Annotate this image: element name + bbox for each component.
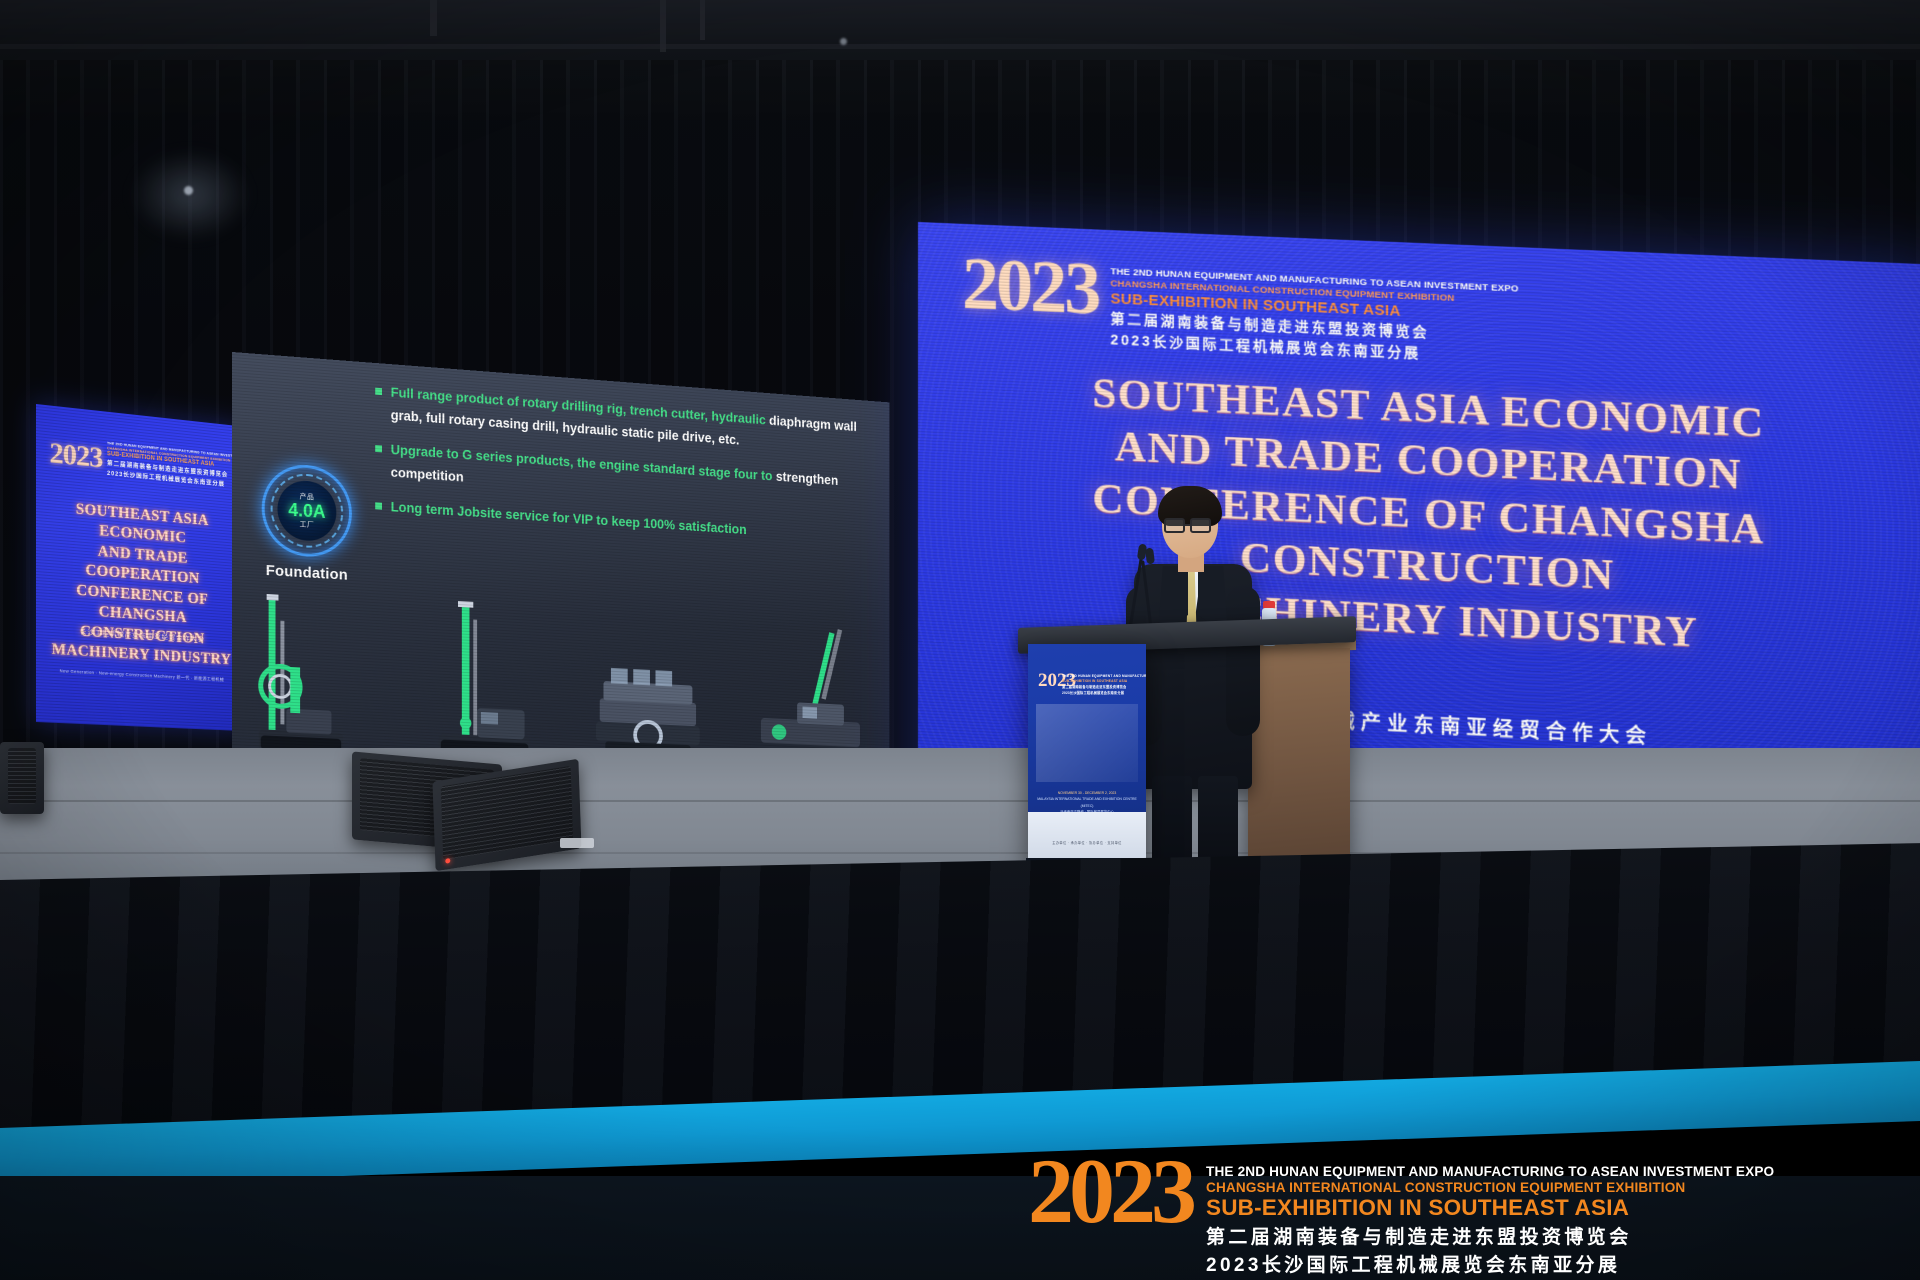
foundation-outer-ring xyxy=(262,462,352,559)
main-screen-title: SOUTHEAST ASIA ECONOMIC AND TRADE COOPER… xyxy=(918,360,1920,672)
foundation-ring-icon: 产品 4.0A 工厂 xyxy=(262,462,352,559)
podium-front-panel: 2023 THE 2ND HUNAN EQUIPMENT AND MANUFAC… xyxy=(1028,644,1146,864)
monitor-grill xyxy=(441,766,574,860)
bullet-square-icon xyxy=(375,445,382,452)
cable-on-floor xyxy=(560,838,594,848)
left-panel-logo: 2023 THE 2ND HUNAN EQUIPMENT AND MANUFAC… xyxy=(49,435,233,488)
main-screen-year: 2023 xyxy=(962,250,1098,324)
speaker-glasses-bridge xyxy=(1185,524,1191,526)
foundation-number: 4.0A xyxy=(288,501,325,521)
speaker-glasses-left-lens xyxy=(1164,518,1185,533)
left-panel-year: 2023 xyxy=(49,436,102,475)
slide-bullet-list: Full range product of rotary drilling ri… xyxy=(375,381,877,562)
stage-monitor-far-left xyxy=(0,742,44,814)
foundation-cn-top: 产品 xyxy=(300,491,315,502)
podium-white-panel: 主办单位 · 承办单位 · 协办单位 · 支持单位 xyxy=(1028,812,1146,864)
left-panel-logo-lines: THE 2ND HUNAN EQUIPMENT AND MANUFACTURIN… xyxy=(107,441,246,490)
ceiling-light-glow xyxy=(130,150,250,240)
bullet-square-icon xyxy=(375,502,382,509)
ceiling-truss-2 xyxy=(700,0,705,40)
ceiling-truss-4 xyxy=(0,44,1920,49)
watermark-line4: 第二届湖南装备与制造走进东盟投资博览会 xyxy=(1206,1222,1774,1249)
main-screen-logo: 2023 THE 2ND HUNAN EQUIPMENT AND MANUFAC… xyxy=(962,250,1519,367)
ceiling-truss-3 xyxy=(430,0,437,36)
slide-bullet-1-highlight: Full range product of rotary drilling ri… xyxy=(391,385,766,427)
bullet-square-icon xyxy=(375,388,382,395)
conference-stage-photo: 2023 THE 2ND HUNAN EQUIPMENT AND MANUFAC… xyxy=(0,0,1920,1280)
slide-bullet-1-rest: diaphragm wall grab, full rotary casing … xyxy=(391,407,857,447)
podium-line1: THE 2ND HUNAN EQUIPMENT AND MANUFACTURIN… xyxy=(1062,674,1146,678)
ceiling-spotlight-1 xyxy=(184,186,193,195)
slide-bullet-2-rest: strengthen competition xyxy=(391,464,839,487)
watermark-logo: 2023 THE 2ND HUNAN EQUIPMENT AND MANUFAC… xyxy=(1028,1152,1774,1277)
left-panel-title: SOUTHEAST ASIA ECONOMIC AND TRADE COOPER… xyxy=(36,496,246,672)
podium-line2: SUB-EXHIBITION IN SOUTHEAST ASIA xyxy=(1062,679,1146,683)
foundation-cn-bottom: 工厂 xyxy=(300,519,315,530)
watermark-line5: 2023长沙国际工程机械展览会东南亚分展 xyxy=(1206,1250,1774,1277)
speaker-right-arm xyxy=(1226,586,1260,736)
podium-host-line: 主办单位 · 承办单位 · 协办单位 · 支持单位 xyxy=(1028,840,1146,845)
watermark-year: 2023 xyxy=(1028,1152,1192,1231)
watermark-lines: THE 2ND HUNAN EQUIPMENT AND MANUFACTURIN… xyxy=(1206,1152,1774,1277)
stage-floor-seam-1 xyxy=(0,800,1920,802)
left-led-panel: 2023 THE 2ND HUNAN EQUIPMENT AND MANUFAC… xyxy=(36,404,246,731)
slide-bullet-2: Upgrade to G series products, the engine… xyxy=(375,438,877,516)
foundation-badge: 产品 4.0A 工厂 Foundation xyxy=(254,461,360,584)
foundation-inner-ring xyxy=(271,472,344,550)
watermark-line2: CHANGSHA INTERNATIONAL CONSTRUCTION EQUI… xyxy=(1206,1180,1774,1195)
podium-logo-lines: THE 2ND HUNAN EQUIPMENT AND MANUFACTURIN… xyxy=(1062,674,1146,695)
slide-top-glow xyxy=(232,352,889,637)
slide-bullet-2-highlight: Upgrade to G series products, the engine… xyxy=(391,442,773,483)
podium-line4: 2023长沙国际工程机械展览会东南亚分展 xyxy=(1062,690,1146,695)
foundation-label: Foundation xyxy=(254,561,360,584)
monitor-power-led xyxy=(445,858,450,864)
watermark-line3: SUB-EXHIBITION IN SOUTHEAST ASIA xyxy=(1206,1196,1774,1221)
monitor-grill xyxy=(8,748,36,804)
podium-line3: 第二届湖南装备与制造走进东盟投资博览会 xyxy=(1062,684,1146,689)
watermark-line1: THE 2ND HUNAN EQUIPMENT AND MANUFACTURIN… xyxy=(1206,1164,1774,1179)
speaker-glasses-right-lens xyxy=(1190,518,1211,533)
main-screen-logo-lines: THE 2ND HUNAN EQUIPMENT AND MANUFACTURIN… xyxy=(1110,256,1518,367)
ceiling-spotlight-2 xyxy=(840,38,847,45)
foundation-core: 产品 4.0A 工厂 xyxy=(277,479,336,542)
slide-bullet-3-highlight: Long term Jobsite service for VIP to kee… xyxy=(391,499,747,537)
podium-venue-line: MALAYSIA INTERNATIONAL TRADE AND EXHIBIT… xyxy=(1034,796,1140,809)
podium-photo-collage xyxy=(1036,704,1138,782)
slide-bullet-3: Long term Jobsite service for VIP to kee… xyxy=(375,495,877,549)
